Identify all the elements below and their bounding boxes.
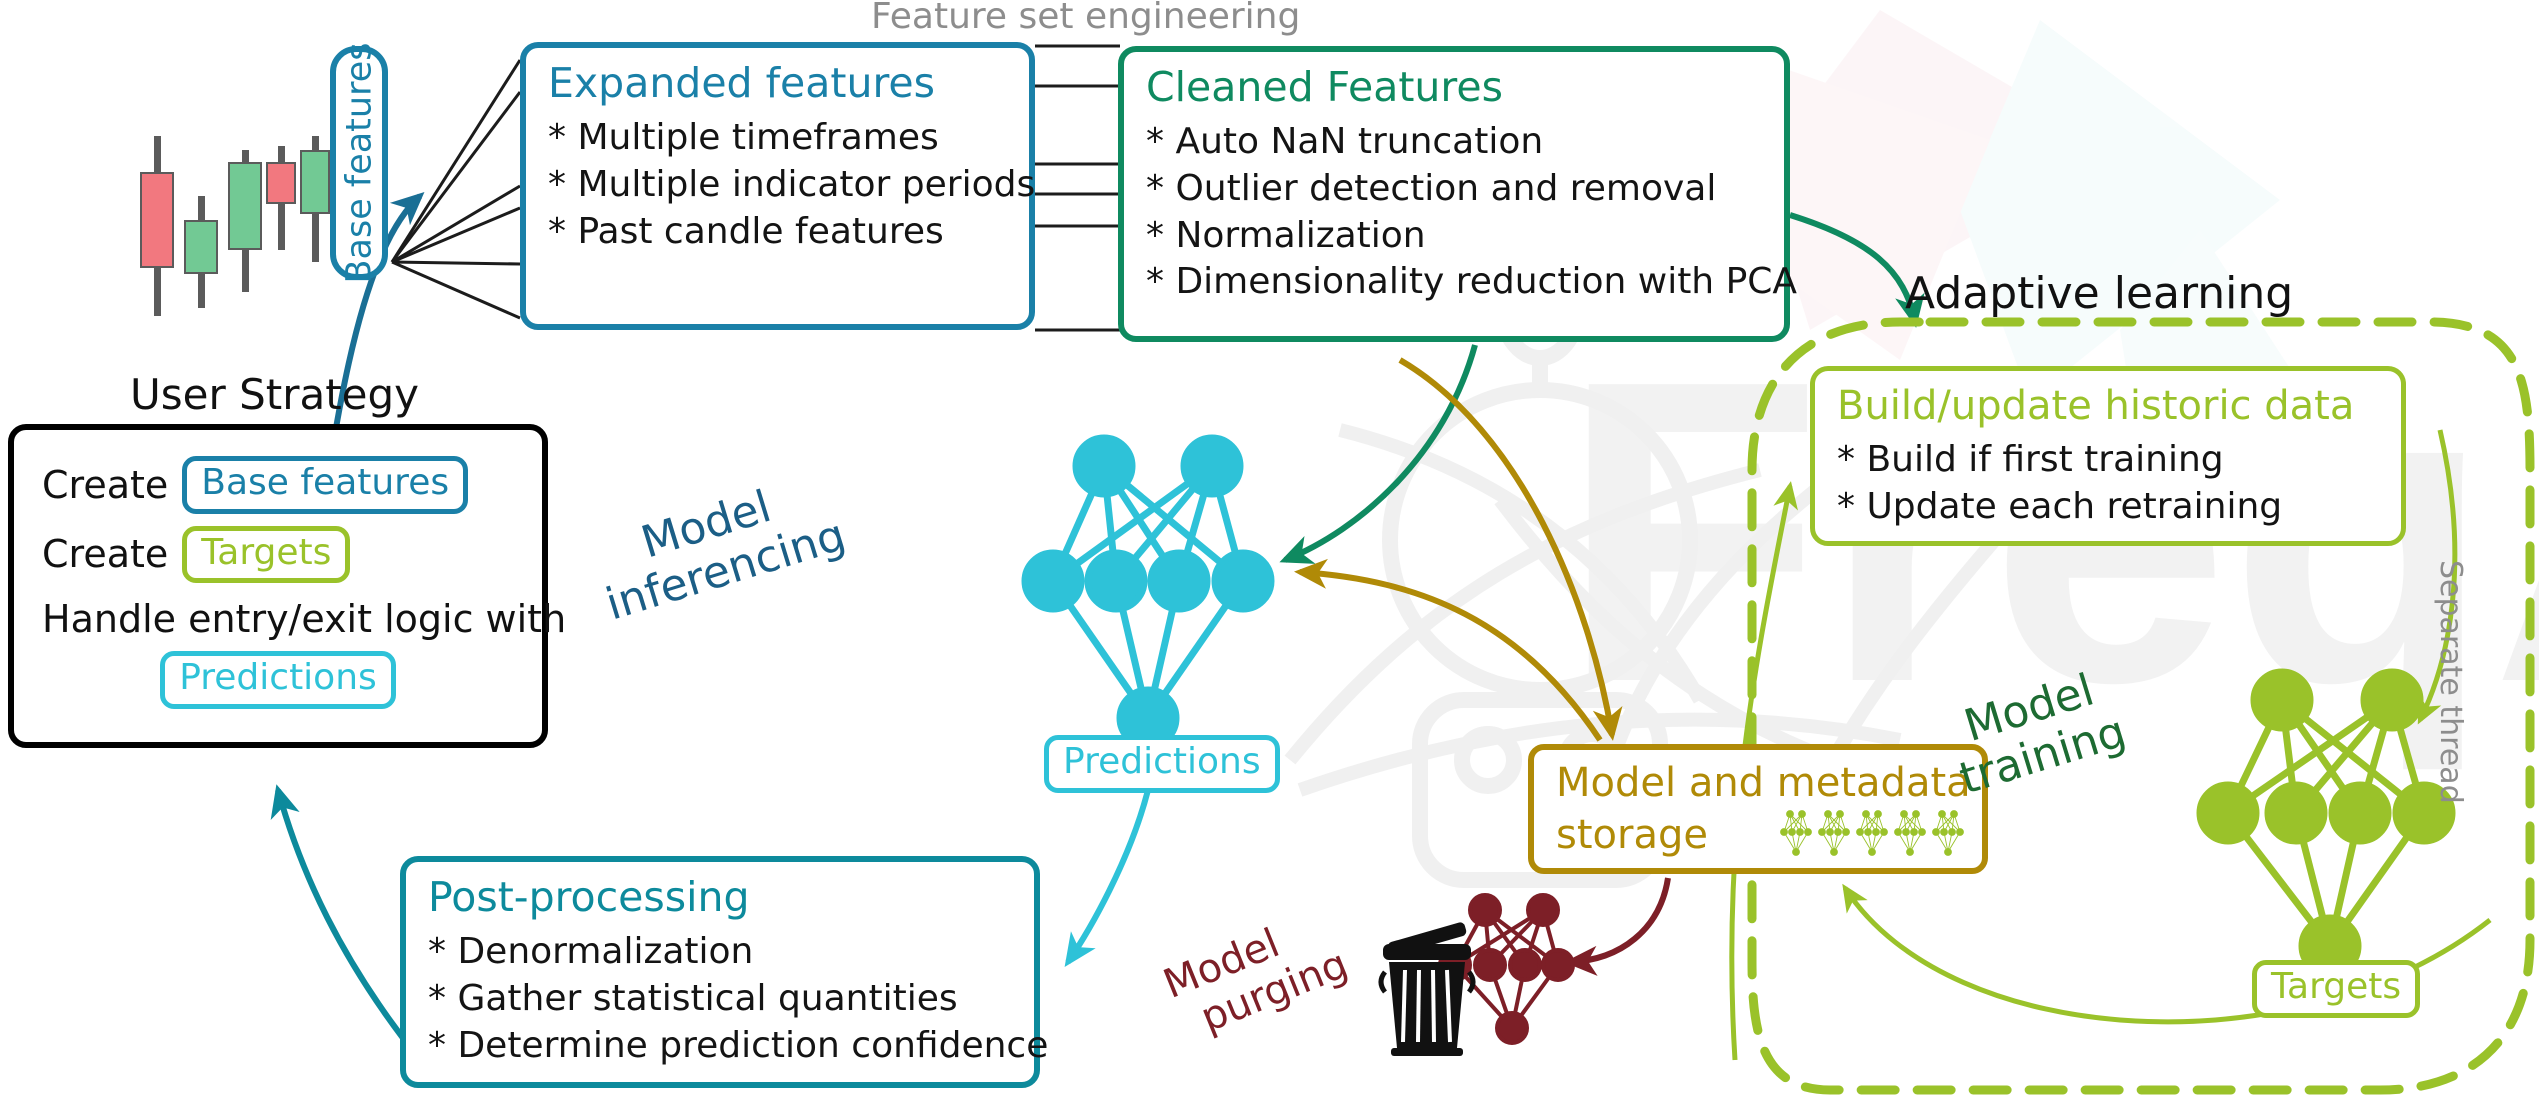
cleaned-features-title: Cleaned Features bbox=[1146, 66, 1764, 109]
storage-line-1: Model and metadata bbox=[1556, 760, 1971, 806]
training-network-icon bbox=[2200, 672, 2452, 974]
candle-2 bbox=[184, 120, 218, 330]
post-processing-item: * Gather statistical quantities bbox=[428, 976, 1014, 1023]
chip-targets-training-wrap: Targets bbox=[2252, 960, 2420, 1018]
chip-predictions-inference[interactable]: Predictions bbox=[1044, 735, 1280, 793]
chip-base-features[interactable]: Base features bbox=[330, 46, 388, 280]
diagram-canvas: FreqAI bbox=[0, 0, 2539, 1104]
candle-5 bbox=[300, 120, 330, 330]
candlestick-chart bbox=[140, 120, 330, 330]
post-processing-title: Post-processing bbox=[428, 876, 1014, 919]
storage-line-2: storage bbox=[1556, 812, 1708, 858]
build-update-item: * Update each retraining bbox=[1837, 484, 2381, 531]
cleaned-features-item: * Outlier detection and removal bbox=[1146, 166, 1764, 213]
candle-1 bbox=[140, 120, 174, 330]
feature-set-engineering-label: Feature set engineering bbox=[871, 0, 1300, 37]
user-strategy-title: User Strategy bbox=[130, 370, 419, 419]
cleaned-features-item: * Normalization bbox=[1146, 213, 1764, 260]
chip-targets-strategy[interactable]: Targets bbox=[182, 526, 350, 584]
user-strategy-create-2: Create bbox=[42, 532, 168, 576]
box-expanded-features: Expanded features * Multiple timeframes … bbox=[520, 42, 1035, 330]
box-user-strategy: Create Base features Create Targets Hand… bbox=[8, 424, 548, 748]
build-update-item: * Build if first training bbox=[1837, 437, 2381, 484]
cleaned-features-item: * Dimensionality reduction with PCA bbox=[1146, 259, 1764, 306]
adaptive-learning-title: Adaptive learning bbox=[1905, 268, 2293, 319]
chip-base-features-strategy[interactable]: Base features bbox=[182, 456, 468, 514]
build-update-title: Build/update historic data bbox=[1837, 385, 2381, 427]
user-strategy-create-1: Create bbox=[42, 463, 168, 507]
user-strategy-logic-line: Handle entry/exit logic with bbox=[42, 597, 514, 641]
box-model-metadata-storage: Model and metadata storage bbox=[1528, 744, 1988, 874]
candle-4 bbox=[266, 120, 296, 330]
box-build-update-historic-data: Build/update historic data * Build if fi… bbox=[1810, 366, 2406, 546]
chip-base-features-label: Base features bbox=[339, 43, 379, 284]
chip-predictions-inference-wrap: Predictions bbox=[1044, 735, 1280, 793]
box-cleaned-features: Cleaned Features * Auto NaN truncation *… bbox=[1118, 46, 1790, 342]
cleaned-features-item: * Auto NaN truncation bbox=[1146, 119, 1764, 166]
post-processing-item: * Denormalization bbox=[428, 929, 1014, 976]
trash-can-icon bbox=[1375, 898, 1479, 1058]
chip-predictions-strategy[interactable]: Predictions bbox=[160, 651, 396, 709]
inference-network-icon bbox=[1025, 438, 1271, 746]
box-post-processing: Post-processing * Denormalization * Gath… bbox=[400, 856, 1040, 1088]
candle-3 bbox=[228, 120, 262, 330]
post-processing-item: * Determine prediction confidence bbox=[428, 1023, 1014, 1070]
chip-targets-training[interactable]: Targets bbox=[2252, 960, 2420, 1018]
expanded-features-item: * Multiple timeframes bbox=[548, 115, 1009, 162]
expanded-features-item: * Multiple indicator periods bbox=[548, 162, 1009, 209]
expanded-features-title: Expanded features bbox=[548, 62, 1009, 105]
separate-thread-label: Separate thread bbox=[2433, 560, 2468, 804]
stored-models-icon bbox=[1778, 806, 1978, 864]
expanded-features-item: * Past candle features bbox=[548, 209, 1009, 256]
